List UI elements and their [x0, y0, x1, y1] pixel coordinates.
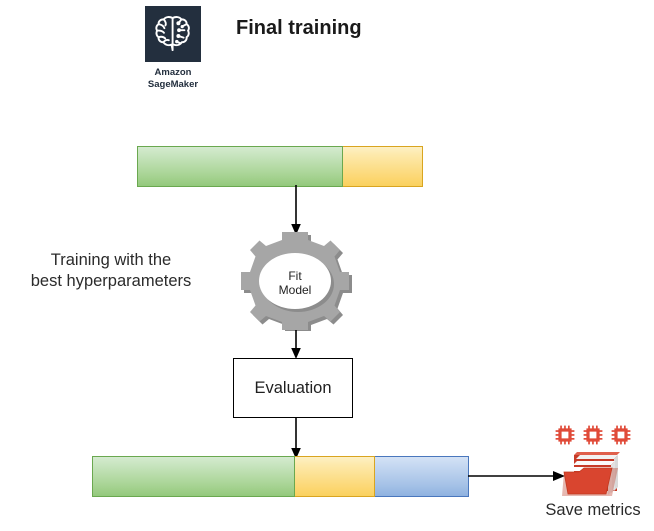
- dataset-bar-bottom[interactable]: [92, 456, 469, 497]
- microchip-icon: [555, 425, 575, 445]
- evaluation-box[interactable]: Evaluation: [233, 358, 353, 418]
- dataset-bar-top-validation-segment: [343, 146, 423, 187]
- dataset-bar-bottom-validation-segment: [295, 456, 375, 497]
- dataset-bar-top-train-segment: [137, 146, 343, 187]
- microchip-icon: [583, 425, 603, 445]
- save-metrics-label: Save metrics: [534, 501, 652, 520]
- side-caption: Training with the best hyperparameters: [6, 250, 216, 292]
- connector-bar-to-gear: [283, 185, 309, 237]
- dataset-bar-top[interactable]: [137, 146, 423, 187]
- save-metrics[interactable]: Save metrics: [534, 424, 652, 520]
- red-folder-icon: [562, 447, 624, 497]
- page-title: Final training: [236, 17, 362, 40]
- dataset-bar-bottom-test-segment: [375, 456, 469, 497]
- connector-evaluation-to-bar: [283, 418, 309, 460]
- connector-gear-to-evaluation: [283, 330, 309, 360]
- evaluation-label: Evaluation: [254, 379, 331, 398]
- microchip-icon-row: [534, 424, 652, 446]
- fit-model-gear[interactable]: Fit Model: [232, 231, 358, 331]
- diagram-canvas: Amazon SageMaker Final training Training…: [0, 0, 654, 531]
- amazon-sagemaker-label: Amazon SageMaker: [136, 67, 210, 90]
- microchip-icon: [611, 425, 631, 445]
- brain-icon: [145, 6, 201, 62]
- amazon-sagemaker-service[interactable]: Amazon SageMaker: [136, 6, 210, 90]
- dataset-bar-bottom-train-segment: [92, 456, 295, 497]
